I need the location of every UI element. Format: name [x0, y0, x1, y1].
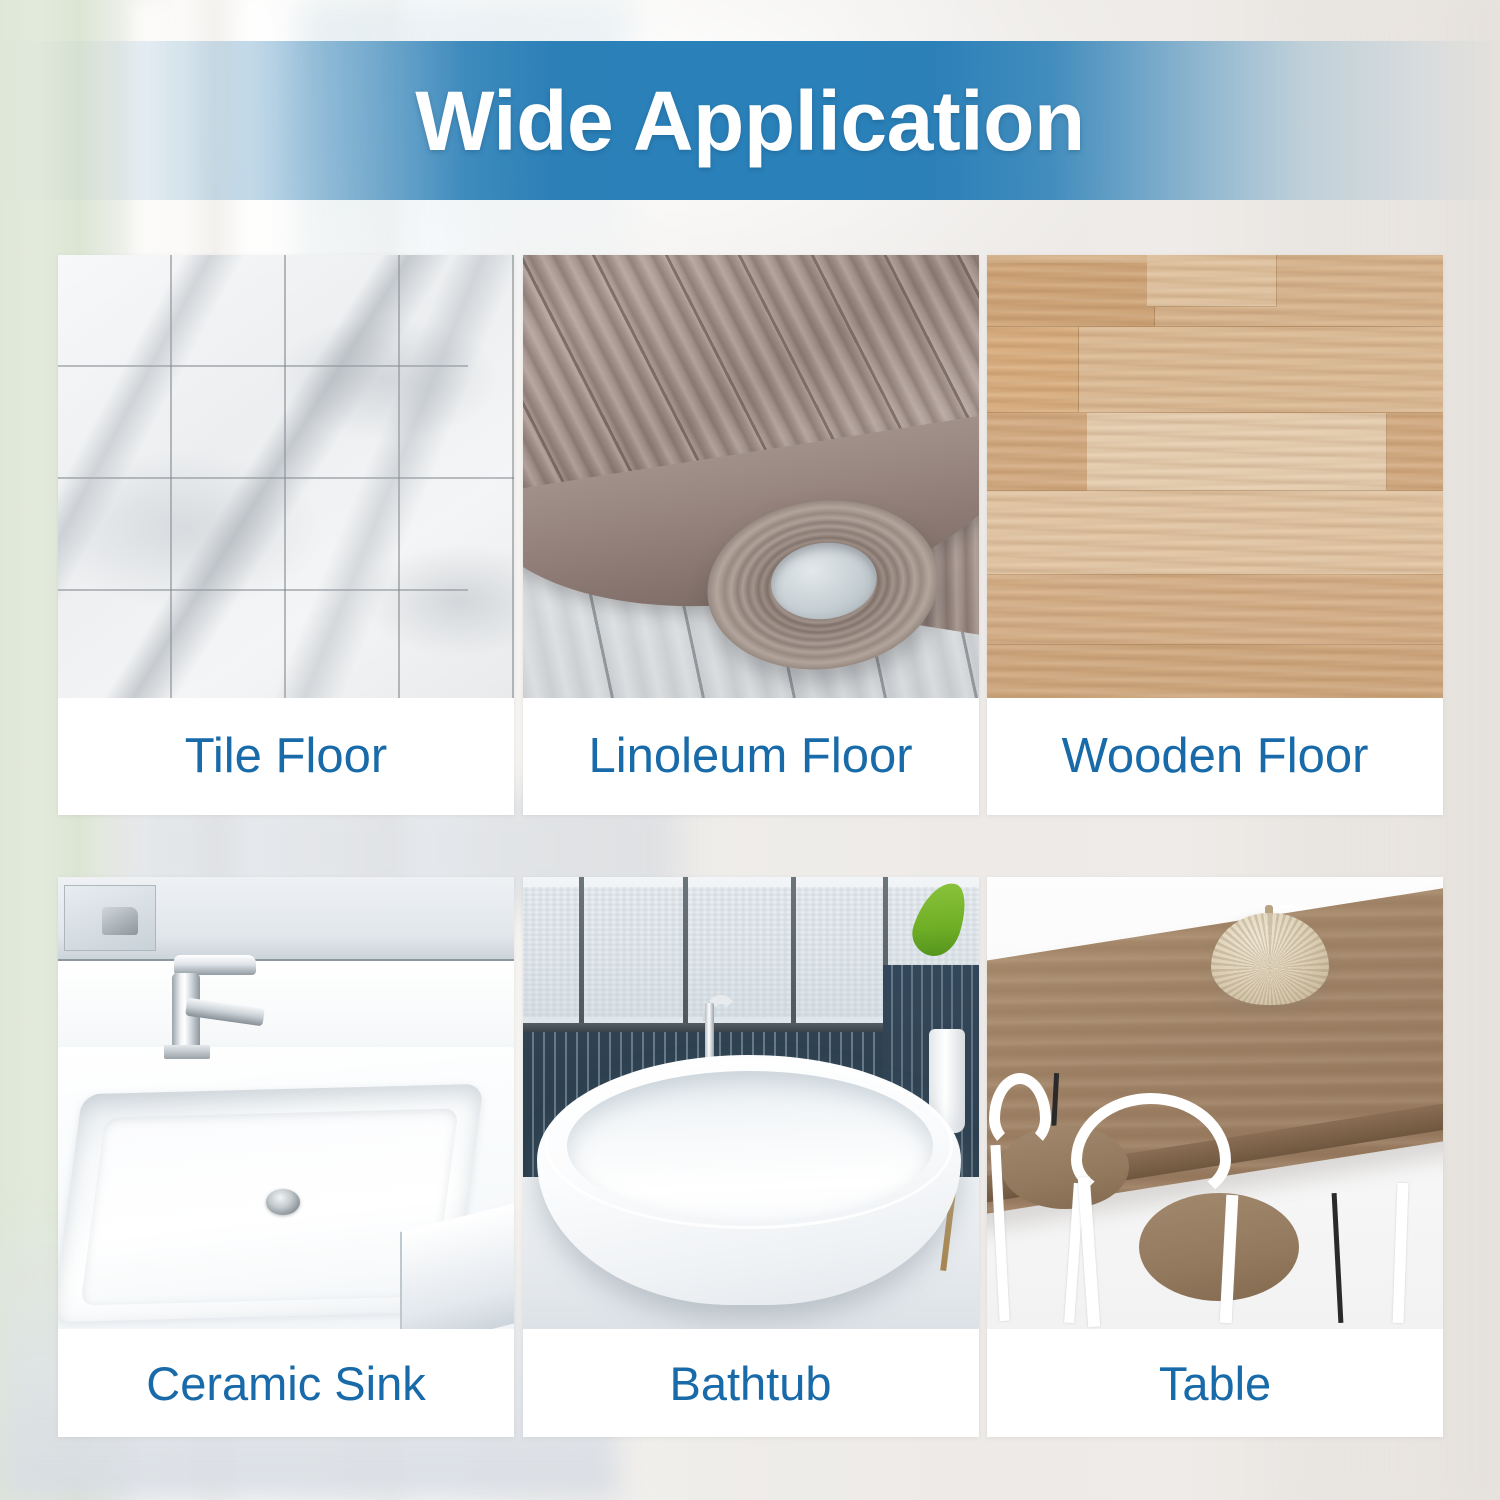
chair-leg-right	[1393, 1183, 1409, 1323]
bathtub-illustration	[523, 877, 979, 1329]
card-image-wooden-floor	[987, 255, 1443, 698]
dining-table-illustration	[987, 877, 1443, 1329]
ceramic-sink-illustration	[58, 877, 514, 1329]
card-caption-table: Table	[987, 1329, 1443, 1437]
card-tile-floor[interactable]: Tile Floor	[58, 255, 514, 815]
infographic-canvas: Wide Application Tile Floor	[0, 0, 1500, 1500]
tile-floor-illustration	[58, 255, 514, 698]
card-image-table	[987, 877, 1443, 1329]
card-label: Linoleum Floor	[588, 732, 912, 781]
mirror-faucet-reflection	[102, 907, 138, 935]
card-bathtub[interactable]: Bathtub	[523, 877, 979, 1437]
card-image-ceramic-sink	[58, 877, 514, 1329]
card-caption-tile-floor: Tile Floor	[58, 698, 514, 815]
card-linoleum-floor[interactable]: Linoleum Floor	[523, 255, 979, 815]
card-image-tile-floor	[58, 255, 514, 698]
faucet-spout	[174, 955, 256, 975]
card-caption-linoleum-floor: Linoleum Floor	[523, 698, 979, 815]
card-label: Tile Floor	[185, 732, 387, 781]
card-label: Ceramic Sink	[146, 1360, 425, 1407]
card-image-bathtub	[523, 877, 979, 1329]
wooden-floor-illustration	[987, 255, 1443, 698]
linoleum-roll-illustration	[523, 255, 979, 698]
table-leg-right	[1332, 1193, 1344, 1323]
page-title: Wide Application	[415, 79, 1084, 163]
header-banner: Wide Application	[0, 41, 1500, 200]
card-caption-ceramic-sink: Ceramic Sink	[58, 1329, 514, 1437]
sink-drain	[266, 1189, 300, 1215]
card-label: Bathtub	[669, 1360, 831, 1407]
card-ceramic-sink[interactable]: Ceramic Sink	[58, 877, 514, 1437]
application-card-grid: Tile Floor Linoleum Floor	[58, 255, 1443, 1437]
chair-seat-center	[1139, 1193, 1299, 1301]
card-label: Wooden Floor	[1062, 732, 1369, 781]
faucet-base	[164, 1045, 210, 1059]
card-caption-wooden-floor: Wooden Floor	[987, 698, 1443, 815]
card-caption-bathtub: Bathtub	[523, 1329, 979, 1437]
wood-grain-texture	[987, 255, 1443, 698]
card-wooden-floor[interactable]: Wooden Floor	[987, 255, 1443, 815]
card-image-linoleum-floor	[523, 255, 979, 698]
card-label: Table	[1159, 1360, 1271, 1407]
card-table[interactable]: Table	[987, 877, 1443, 1437]
